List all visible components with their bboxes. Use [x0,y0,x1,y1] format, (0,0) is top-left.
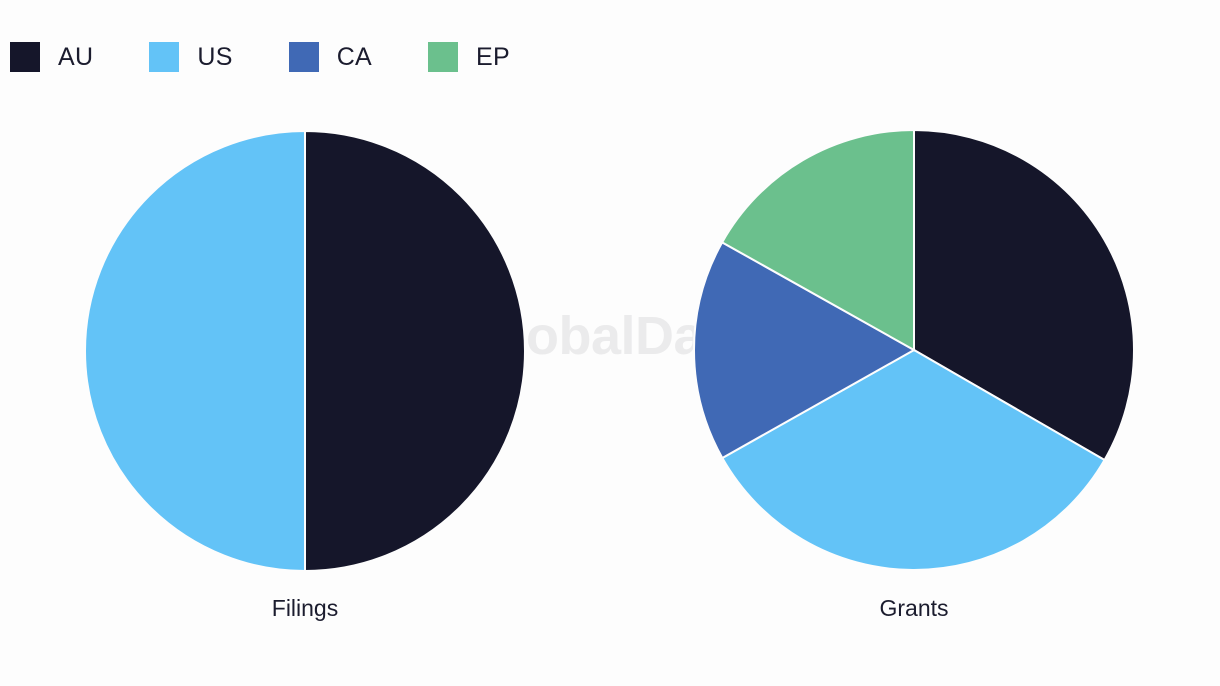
pie-slice-filings-us[interactable] [85,131,305,571]
pie-grants [694,130,1134,570]
pie-slice-filings-au[interactable] [305,131,525,571]
pie-slices-layer [0,0,1220,686]
pie-chart-figure: AUUSCAEP GlobalData Filings Grants [0,0,1220,686]
pie-filings [85,131,525,571]
pie-caption-grants: Grants [764,595,1064,622]
pie-caption-filings: Filings [155,595,455,622]
